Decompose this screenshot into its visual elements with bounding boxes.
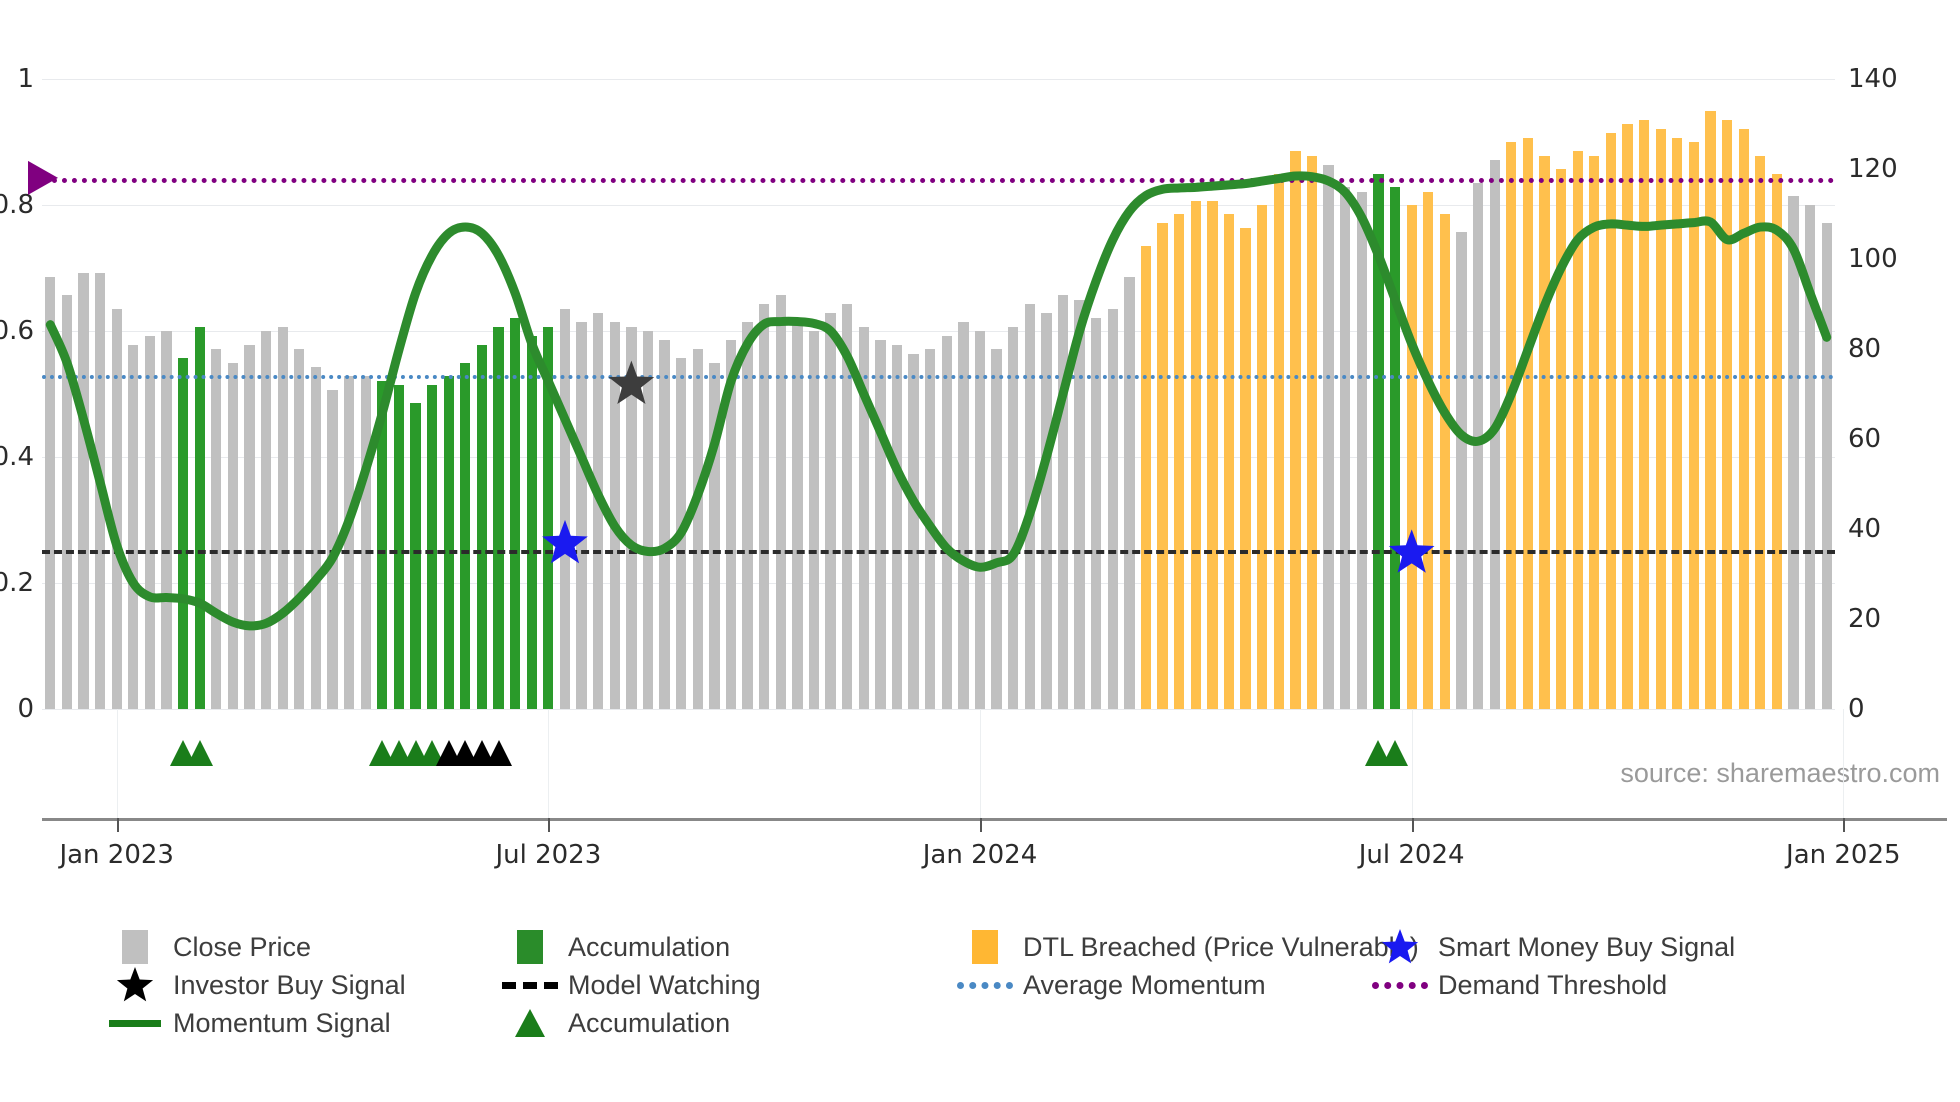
x-axis-tick xyxy=(1412,818,1414,832)
vertical-guide xyxy=(1412,709,1413,818)
y-axis-right-tick: 120 xyxy=(1848,154,1898,184)
gridline xyxy=(42,709,1835,710)
bar-close-price xyxy=(892,345,902,710)
bar-close-price xyxy=(45,277,55,709)
plot-area xyxy=(42,79,1835,709)
bar-close-price xyxy=(95,273,105,710)
bar-close-price xyxy=(62,295,72,709)
bar-dtl-breached xyxy=(1589,156,1599,710)
bar-accumulation xyxy=(1373,174,1383,710)
x-axis-line xyxy=(42,818,1947,821)
bar-series xyxy=(42,79,1835,709)
bar-accumulation xyxy=(394,385,404,709)
x-axis-label: Jan 2025 xyxy=(1786,840,1901,870)
bar-close-price xyxy=(311,367,321,709)
legend-label: Accumulation xyxy=(568,932,730,963)
bar-close-price xyxy=(792,322,802,709)
legend-item[interactable]: Investor Buy Signal xyxy=(105,965,406,1005)
bar-close-price xyxy=(958,322,968,709)
vertical-guide xyxy=(980,709,981,818)
bar-close-price xyxy=(112,309,122,710)
legend-label: Accumulation xyxy=(568,1008,730,1039)
bar-dtl-breached xyxy=(1639,120,1649,710)
vertical-guide xyxy=(548,709,549,818)
bar-close-price xyxy=(1822,223,1832,709)
vertical-guide xyxy=(1843,709,1844,818)
bar-accumulation xyxy=(195,327,205,710)
bar-close-price xyxy=(261,331,271,709)
bar-close-price xyxy=(161,331,171,709)
x-axis-label: Jan 2024 xyxy=(923,840,1038,870)
vertical-guide xyxy=(117,709,118,818)
triangle-icon xyxy=(500,1009,560,1037)
bar-dtl-breached xyxy=(1556,169,1566,709)
bar-close-price xyxy=(211,349,221,709)
bar-dtl-breached xyxy=(1772,174,1782,710)
accumulation-triangle-marker xyxy=(187,740,213,766)
bar-close-price xyxy=(361,376,371,709)
bar-close-price xyxy=(709,363,719,710)
bar-accumulation xyxy=(527,336,537,710)
reference-line-demand-threshold xyxy=(42,178,1835,183)
bar-close-price xyxy=(759,304,769,709)
bar-dtl-breached xyxy=(1224,214,1234,709)
reference-line-average-momentum xyxy=(42,375,1835,379)
legend-label: Smart Money Buy Signal xyxy=(1438,932,1735,963)
y-axis-right-tick: 0 xyxy=(1848,694,1865,724)
y-axis-left-tick: 0.8 xyxy=(0,190,34,220)
bar-accumulation xyxy=(1390,187,1400,709)
bar-dtl-breached xyxy=(1672,138,1682,710)
legend-label: Momentum Signal xyxy=(173,1008,391,1039)
bar-accumulation xyxy=(477,345,487,710)
bar-close-price xyxy=(1108,309,1118,710)
bar-accumulation xyxy=(444,376,454,709)
bar-dtl-breached xyxy=(1755,156,1765,710)
legend-item[interactable]: Accumulation xyxy=(500,930,730,964)
legend-item[interactable]: Close Price xyxy=(105,930,311,964)
dotted-line-icon xyxy=(955,982,1015,989)
legend-color-swatch xyxy=(105,930,165,964)
bar-dtl-breached xyxy=(1739,129,1749,710)
bar-close-price xyxy=(842,304,852,709)
bar-close-price xyxy=(1323,165,1333,710)
y-axis-left: 00.20.40.60.81 xyxy=(0,79,34,709)
x-axis-tick xyxy=(548,818,550,832)
legend-color-swatch xyxy=(955,930,1015,964)
bar-close-price xyxy=(991,349,1001,709)
bar-dtl-breached xyxy=(1307,156,1317,710)
bar-close-price xyxy=(78,273,88,710)
bar-close-price xyxy=(908,354,918,710)
bar-close-price xyxy=(1074,300,1084,710)
bar-dtl-breached xyxy=(1606,133,1616,709)
bar-close-price xyxy=(1456,232,1466,709)
bar-close-price xyxy=(128,345,138,710)
bar-dtl-breached xyxy=(1689,142,1699,709)
bar-close-price xyxy=(1025,304,1035,709)
bar-accumulation xyxy=(410,403,420,709)
bar-close-price xyxy=(1490,160,1500,709)
bar-close-price xyxy=(344,376,354,709)
bar-close-price xyxy=(875,340,885,709)
bar-dtl-breached xyxy=(1705,111,1715,710)
bar-dtl-breached xyxy=(1141,246,1151,710)
x-axis-label: Jan 2023 xyxy=(59,840,174,870)
star-icon xyxy=(105,965,165,1005)
source-attribution: source: sharemaestro.com xyxy=(1620,758,1940,789)
bar-close-price xyxy=(1124,277,1134,709)
legend-item[interactable]: Average Momentum xyxy=(955,970,1266,1001)
bar-close-price xyxy=(975,331,985,709)
bar-close-price xyxy=(1340,187,1350,709)
solid-line-icon xyxy=(105,1020,165,1027)
bar-close-price xyxy=(1008,327,1018,710)
dashed-line-icon xyxy=(500,982,560,989)
bar-dtl-breached xyxy=(1423,192,1433,710)
y-axis-right-tick: 100 xyxy=(1848,244,1898,274)
legend-item[interactable]: DTL Breached (Price Vulnerable) xyxy=(955,930,1419,964)
bar-close-price xyxy=(1805,205,1815,709)
bar-dtl-breached xyxy=(1274,174,1284,710)
bar-close-price xyxy=(610,322,620,709)
y-axis-right-tick: 140 xyxy=(1848,64,1898,94)
bar-close-price xyxy=(244,345,254,710)
bar-close-price xyxy=(1041,313,1051,709)
bar-accumulation xyxy=(493,327,503,710)
y-axis-right-tick: 20 xyxy=(1848,604,1881,634)
legend-item[interactable]: Accumulation xyxy=(500,1008,730,1039)
bar-dtl-breached xyxy=(1157,223,1167,709)
legend-color-swatch xyxy=(500,930,560,964)
y-axis-right-tick: 80 xyxy=(1848,334,1881,364)
y-axis-right: 020406080100120140 xyxy=(1848,79,1958,709)
legend-label: Investor Buy Signal xyxy=(173,970,406,1001)
bar-close-price xyxy=(576,322,586,709)
bar-close-price xyxy=(145,336,155,710)
legend-label: Demand Threshold xyxy=(1438,970,1667,1001)
x-axis-tick xyxy=(980,818,982,832)
legend-label: Model Watching xyxy=(568,970,761,1001)
bar-close-price xyxy=(1473,183,1483,710)
bar-dtl-breached xyxy=(1191,201,1201,710)
bar-close-price xyxy=(560,309,570,710)
accumulation-marker-row xyxy=(42,718,1835,778)
legend-item[interactable]: Momentum Signal xyxy=(105,1008,391,1039)
bar-accumulation xyxy=(377,381,387,710)
y-axis-right-tick: 40 xyxy=(1848,514,1881,544)
bar-dtl-breached xyxy=(1523,138,1533,710)
chart-canvas: 00.20.40.60.81 020406080100120140 source… xyxy=(0,0,1960,1102)
bar-close-price xyxy=(659,340,669,709)
y-axis-left-tick: 0 xyxy=(17,694,34,724)
bar-dtl-breached xyxy=(1290,151,1300,709)
bar-close-price xyxy=(776,295,786,709)
x-axis-label: Jul 2024 xyxy=(1359,840,1465,870)
bar-close-price xyxy=(1788,196,1798,709)
bar-dtl-breached xyxy=(1240,228,1250,710)
star-icon xyxy=(1370,927,1430,967)
legend-label: Average Momentum xyxy=(1023,970,1266,1001)
bar-close-price xyxy=(643,331,653,709)
y-axis-left-tick: 1 xyxy=(17,64,34,94)
legend-row: Momentum SignalAccumulation xyxy=(105,1004,1945,1042)
bar-close-price xyxy=(626,327,636,710)
bar-dtl-breached xyxy=(1722,120,1732,710)
bar-dtl-breached xyxy=(1656,129,1666,710)
bar-accumulation xyxy=(427,385,437,709)
x-axis-tick xyxy=(1843,818,1845,832)
y-axis-left-tick: 0.2 xyxy=(0,568,34,598)
dotted-line-icon xyxy=(1370,982,1430,989)
bar-accumulation xyxy=(178,358,188,709)
bar-close-price xyxy=(676,358,686,709)
bar-dtl-breached xyxy=(1407,205,1417,709)
reference-line-model-watching xyxy=(42,550,1835,554)
bar-close-price xyxy=(1357,192,1367,710)
bar-dtl-breached xyxy=(1622,124,1632,709)
legend-item[interactable]: Smart Money Buy Signal xyxy=(1370,927,1735,967)
bar-accumulation xyxy=(543,327,553,710)
x-axis-label: Jul 2023 xyxy=(495,840,601,870)
bar-close-price xyxy=(809,331,819,709)
accumulation-triangle-marker xyxy=(486,740,512,766)
legend-row: Close PriceAccumulationDTL Breached (Pri… xyxy=(105,928,1945,966)
chart-legend: Close PriceAccumulationDTL Breached (Pri… xyxy=(105,928,1945,1042)
bar-close-price xyxy=(742,322,752,709)
bar-close-price xyxy=(925,349,935,709)
bar-close-price xyxy=(859,327,869,710)
legend-label: DTL Breached (Price Vulnerable) xyxy=(1023,932,1419,963)
bar-close-price xyxy=(942,336,952,710)
legend-item[interactable]: Model Watching xyxy=(500,970,761,1001)
bar-dtl-breached xyxy=(1506,142,1516,709)
bar-close-price xyxy=(1058,295,1068,709)
bar-close-price xyxy=(726,340,736,709)
legend-label: Close Price xyxy=(173,932,311,963)
bar-dtl-breached xyxy=(1539,156,1549,710)
bar-close-price xyxy=(228,363,238,710)
y-axis-left-tick: 0.6 xyxy=(0,316,34,346)
bar-dtl-breached xyxy=(1573,151,1583,709)
bar-dtl-breached xyxy=(1257,205,1267,709)
y-axis-left-tick: 0.4 xyxy=(0,442,34,472)
legend-item[interactable]: Demand Threshold xyxy=(1370,970,1667,1001)
legend-row: Investor Buy SignalModel WatchingAverage… xyxy=(105,966,1945,1004)
bar-close-price xyxy=(278,327,288,710)
x-axis-tick xyxy=(117,818,119,832)
bar-dtl-breached xyxy=(1440,214,1450,709)
bar-close-price xyxy=(825,313,835,709)
bar-close-price xyxy=(593,313,603,709)
bar-dtl-breached xyxy=(1174,214,1184,709)
bar-accumulation xyxy=(460,363,470,710)
accumulation-triangle-marker xyxy=(1382,740,1408,766)
y-axis-right-tick: 60 xyxy=(1848,424,1881,454)
bar-close-price xyxy=(693,349,703,709)
bar-dtl-breached xyxy=(1207,201,1217,710)
bar-close-price xyxy=(294,349,304,709)
